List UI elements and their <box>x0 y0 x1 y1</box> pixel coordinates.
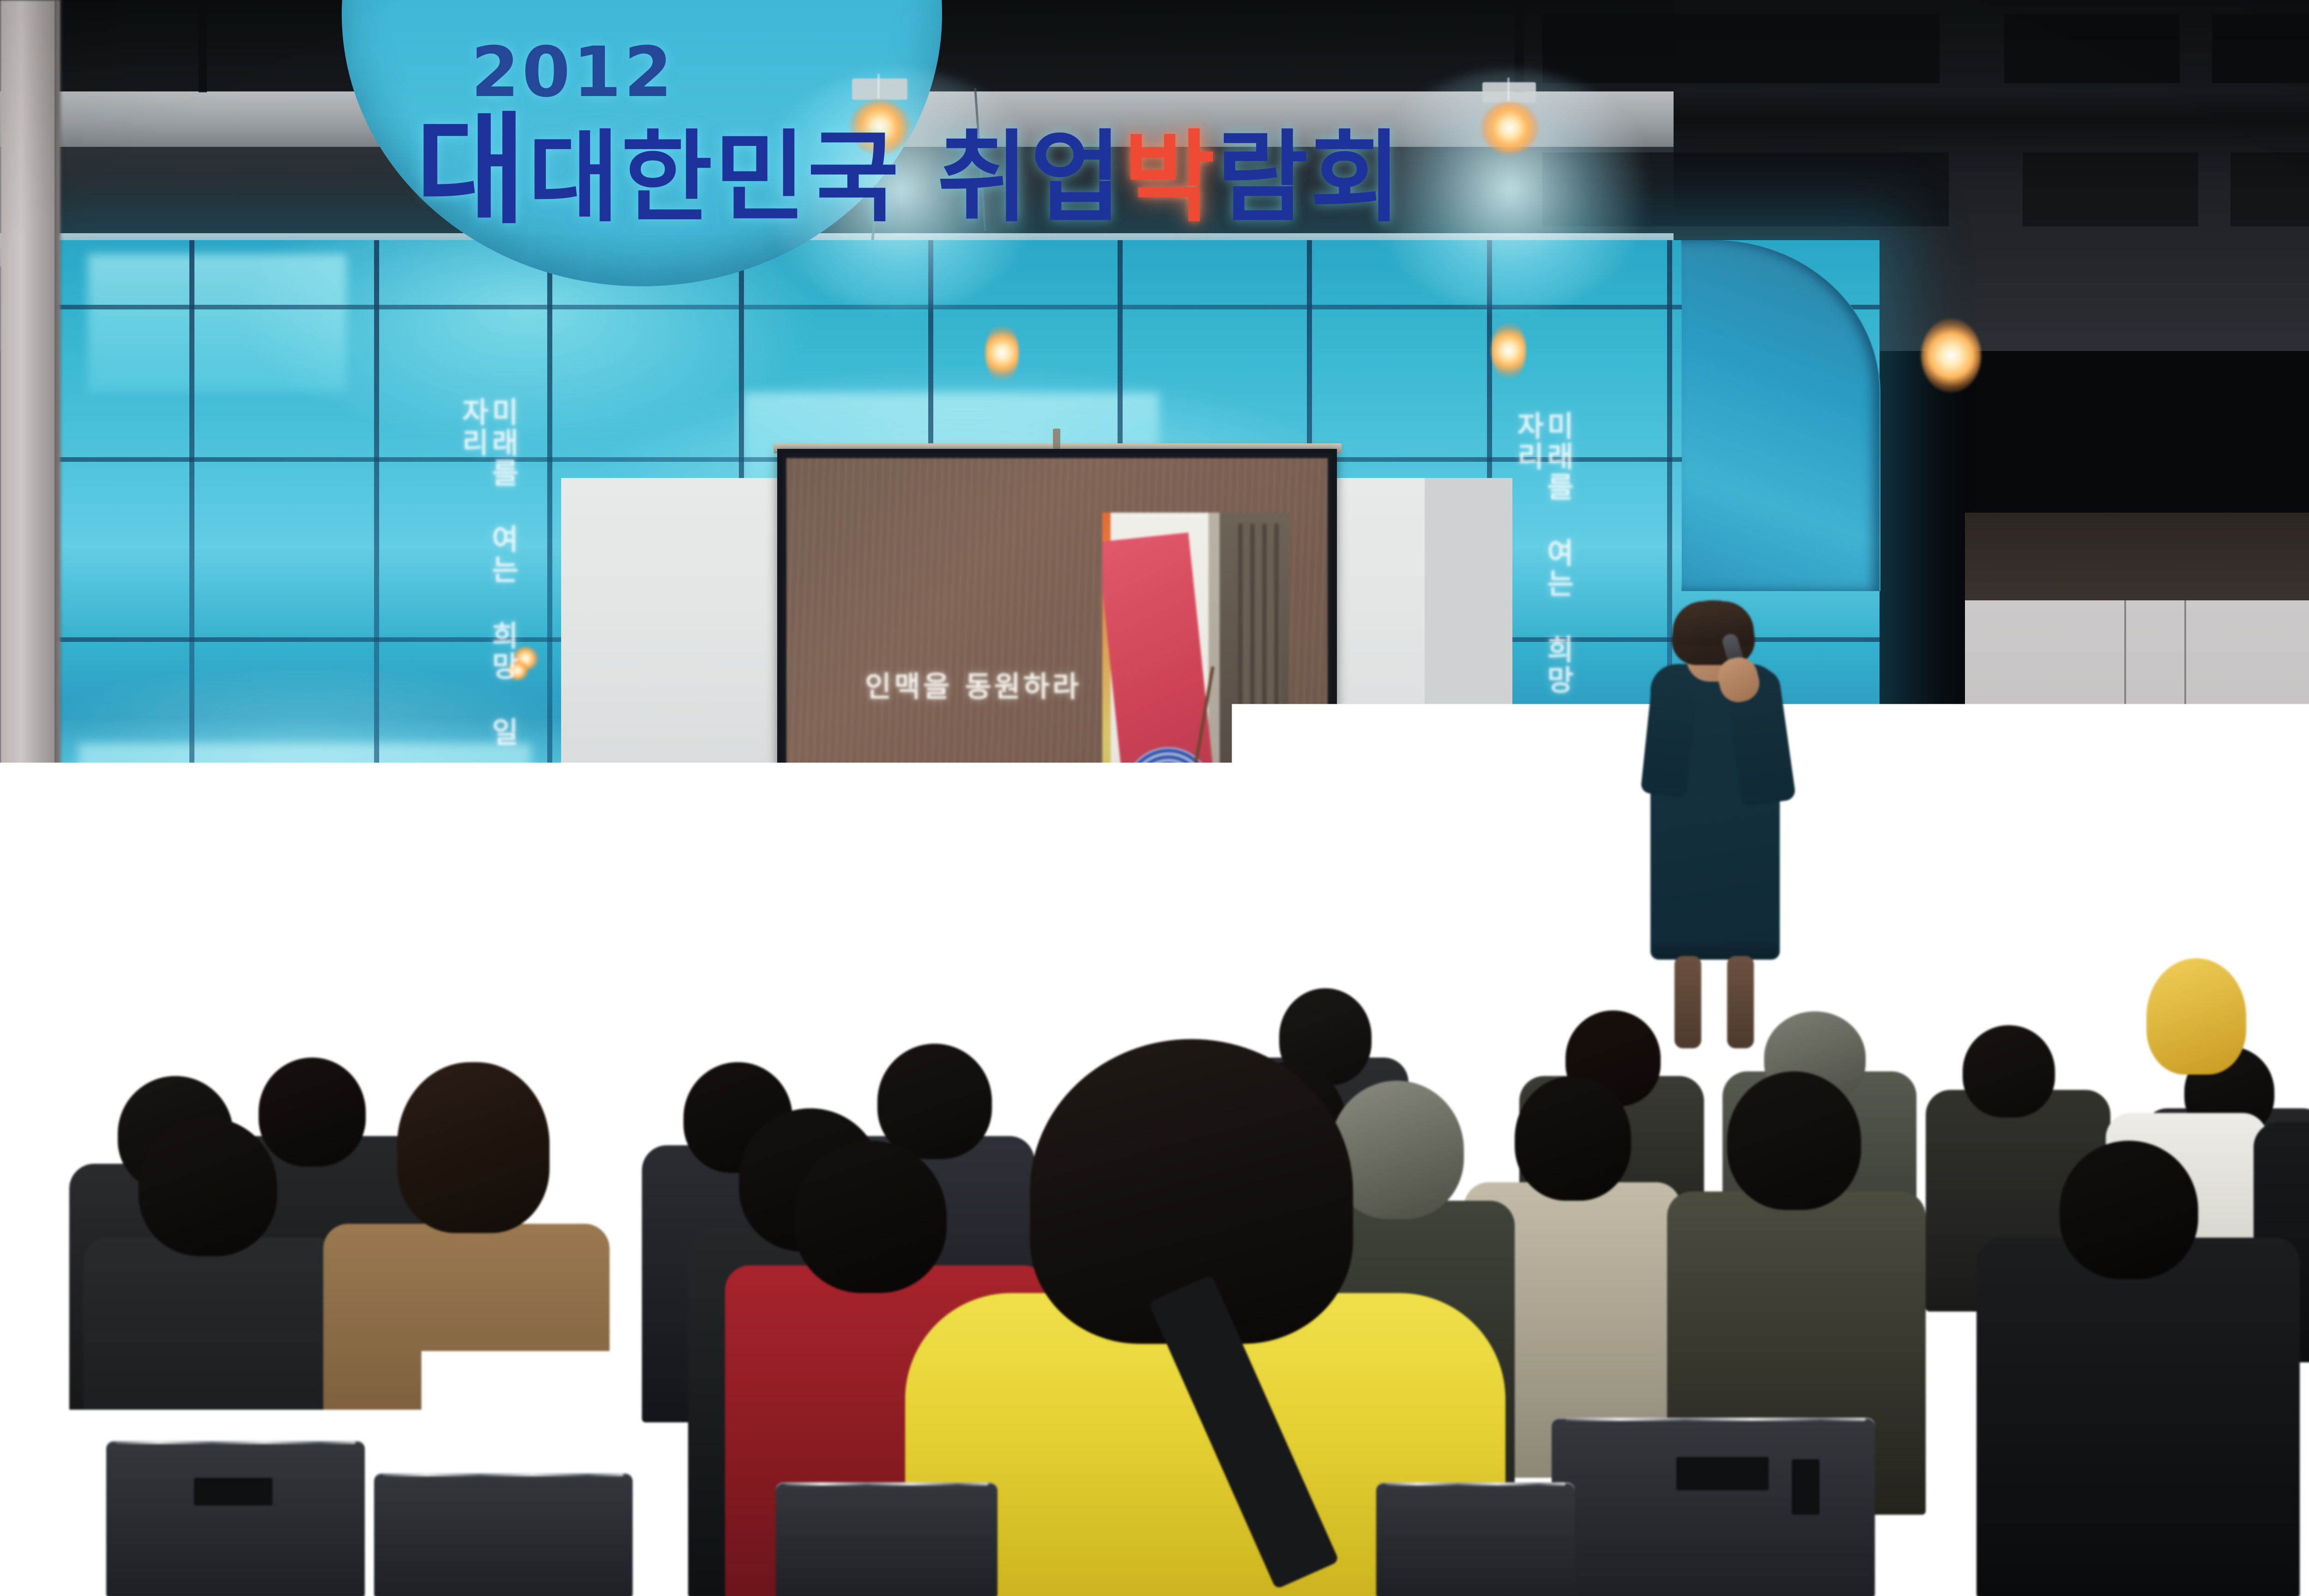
slide-caption: 인맥을 동원하라 <box>865 663 1082 705</box>
backdrop-grid-line <box>51 305 1880 309</box>
chair-rim-highlight <box>785 1482 988 1486</box>
white-wall-panel <box>1425 478 1512 801</box>
booth-wall-seam <box>2184 600 2186 877</box>
banner-title-highlight: 박 <box>1124 120 1217 236</box>
chair <box>1552 1418 1875 1596</box>
light-stem <box>1507 78 1510 102</box>
chair-slot <box>194 1478 272 1505</box>
slide-photo <box>1102 513 1289 915</box>
hall-panel <box>2212 14 2309 83</box>
backdrop-grid-line <box>189 240 194 1094</box>
projection-screen-hanger <box>1053 429 1060 449</box>
chair-rim-highlight <box>1385 1482 1566 1486</box>
speaker-leg <box>1674 956 1701 1048</box>
speaker-hair-front <box>1673 601 1754 646</box>
attendee-head <box>2060 1141 2198 1279</box>
slide-photo-cherry <box>1221 790 1248 816</box>
speaker-leg <box>1727 956 1754 1048</box>
chair-slot <box>1676 1457 1769 1490</box>
speaker-skirt-hem <box>1652 942 1778 959</box>
blonde-attendee-head <box>2146 958 2246 1075</box>
attendee-head <box>794 1141 947 1293</box>
booth-wall-seam <box>2124 600 2126 877</box>
attendee-head <box>877 1044 992 1159</box>
hall-panel <box>1542 14 1940 83</box>
slide-photo-bar-texture <box>1238 524 1281 722</box>
spotlight-icon <box>1492 320 1526 381</box>
banner-title-part-1: 대한민국 취업 <box>528 120 1124 236</box>
booth-pillar-edge <box>54 0 64 1596</box>
banner-year: 2012 <box>471 32 675 113</box>
backdrop-lit-panel <box>88 254 346 393</box>
water-bottle-cap <box>2030 802 2042 812</box>
backdrop-grid-line <box>374 240 379 1094</box>
projection-screen: 인맥을 동원하라 <box>777 449 1337 925</box>
chair <box>374 1473 633 1596</box>
projection-screen-tripod-post <box>1052 941 1059 1036</box>
chair <box>106 1441 365 1596</box>
frame-edge-bottom <box>0 1580 2309 1596</box>
spotlight-icon <box>985 323 1019 382</box>
slide-photo-dark-column <box>1220 513 1289 771</box>
photo-scene: 2012 대대한민국 취업박람회 미래를 여는 희망 일자리 미래를 여는 희망… <box>0 0 2309 1596</box>
event-banner: 2012 대대한민국 취업박람회 <box>356 28 1279 268</box>
attendee-head <box>1727 1071 1861 1210</box>
hall-panel <box>2004 14 2180 83</box>
attendee-head <box>1515 1076 1631 1201</box>
chair-rim-highlight <box>383 1473 623 1476</box>
backdrop-grid-line <box>547 240 552 1094</box>
hall-panel <box>2023 152 2198 226</box>
chair <box>1376 1482 1575 1596</box>
chair <box>776 1482 997 1596</box>
projection-screen-bottom-bar <box>770 922 1345 941</box>
water-bottle <box>2028 809 2045 859</box>
hall-panel <box>2230 152 2309 226</box>
attendee-head <box>397 1062 550 1233</box>
backdrop-lit-panel <box>79 744 531 840</box>
banner-title-part-2: 람회 <box>1217 120 1403 236</box>
booth-wall-upper <box>1965 513 2309 605</box>
table-leg <box>2286 1007 2296 1088</box>
chair-slot <box>1792 1459 1819 1515</box>
chair-rim-highlight <box>1566 1418 1866 1421</box>
booth-wall-panel <box>1965 600 2309 877</box>
spotlight-icon <box>1921 319 1981 393</box>
chair-rim-highlight <box>115 1441 356 1444</box>
spotlight-icon <box>1481 102 1539 154</box>
list-item <box>1977 1238 2300 1596</box>
slide-photo-cherry <box>1202 817 1227 842</box>
backdrop-vertical-text-left: 미래를 여는 희망 일자리 <box>429 397 517 757</box>
attendee-head <box>139 1118 277 1256</box>
banner-title: 대대한민국 취업박람회 <box>416 111 1403 231</box>
ceiling-slat <box>199 0 207 92</box>
attendee-head <box>259 1058 366 1167</box>
booth-pillar-left <box>0 0 60 1596</box>
attendee-head <box>1963 1025 2055 1118</box>
projected-slide: 인맥을 동원하라 <box>786 458 1328 915</box>
banner-title-first-char: 대 <box>416 101 528 241</box>
paper-cup <box>1981 830 2005 858</box>
